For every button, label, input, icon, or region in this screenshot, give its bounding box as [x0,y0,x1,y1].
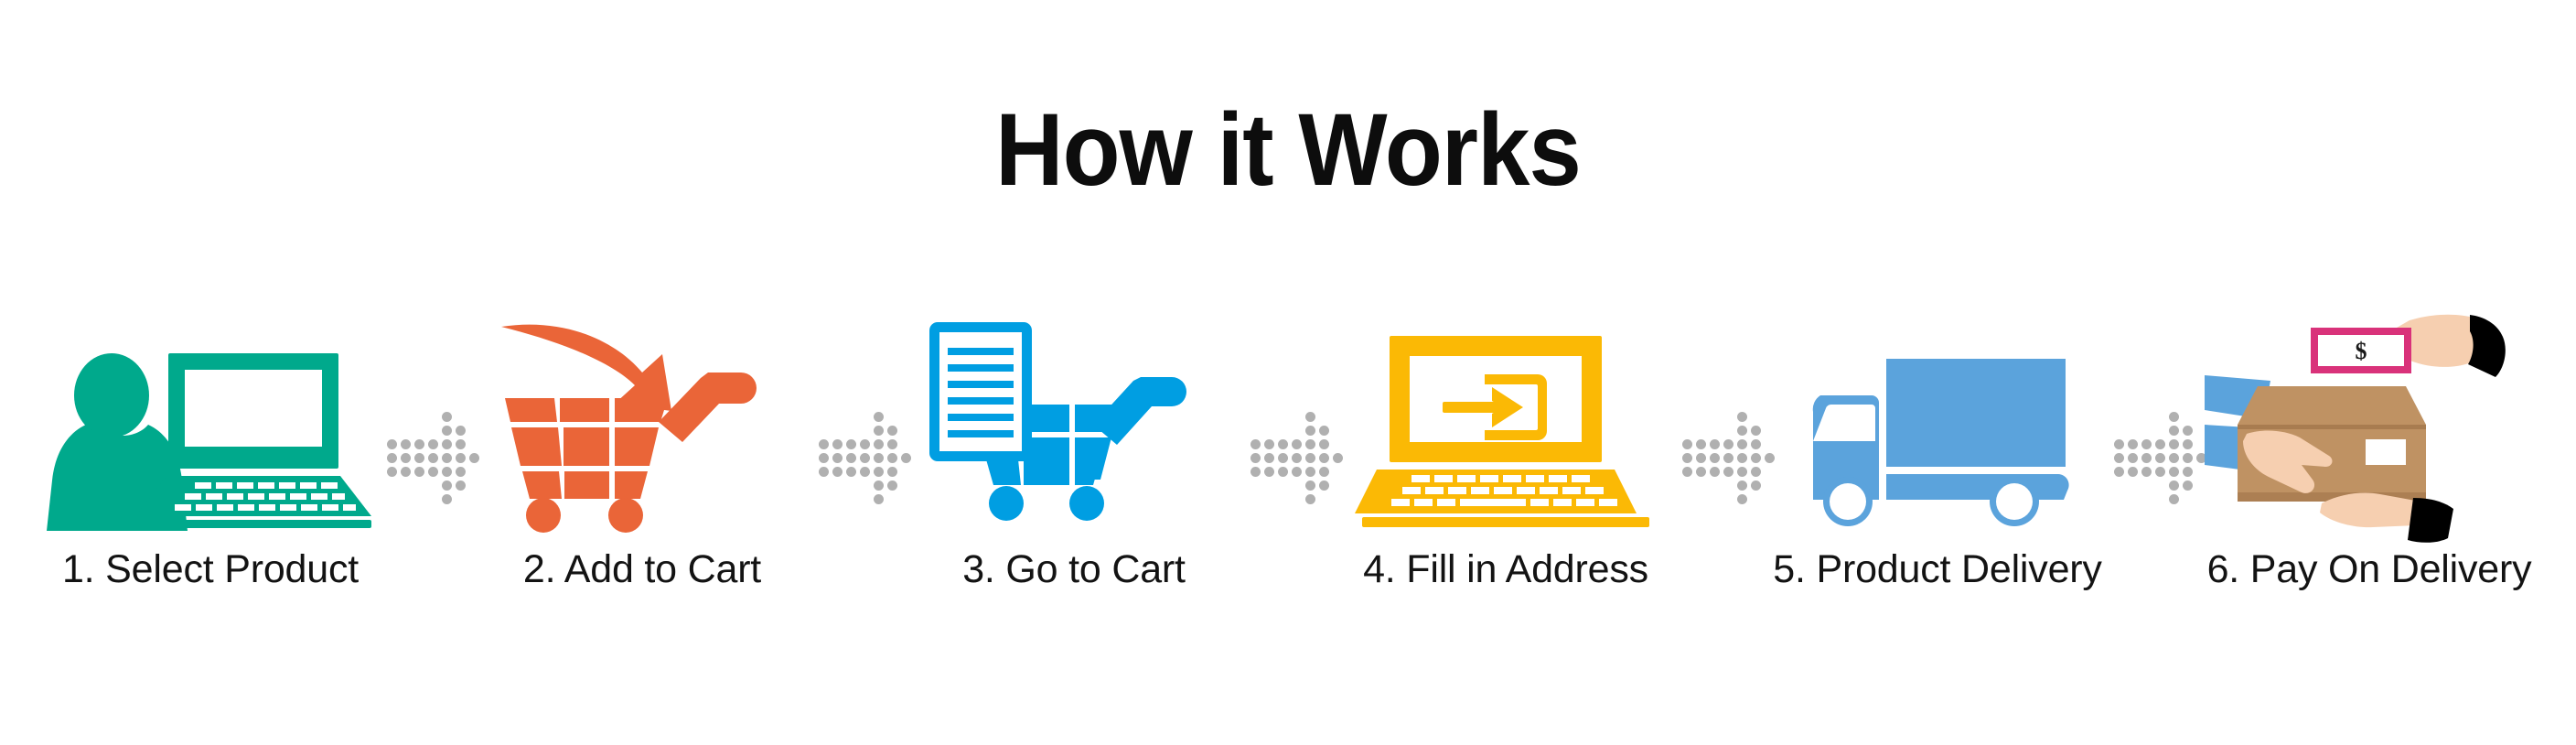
arrow-dot-empty [2126,479,2140,492]
arrow-dot-empty [1667,410,1680,424]
arrow-dot-empty [2098,465,2112,479]
arrow-dot-empty [1694,492,1708,506]
step-6-label: 6. Pay On Delivery [2207,547,2532,592]
step-connector-1 [384,311,468,641]
arrow-dot-empty [844,492,858,506]
steps-row: 1. Select Product 2. Add to Cart [37,311,2543,641]
arrow-dot-empty [803,451,817,465]
arrow-dot [1317,424,1331,437]
step-4[interactable]: 4. Fill in Address [1332,311,1680,641]
arrow-dot [385,437,399,451]
arrow-dot-empty [2140,424,2153,437]
arrow-dot-empty [1708,424,1722,437]
arrow-dot-empty [2098,424,2112,437]
arrow-dot-empty [858,424,872,437]
arrow-dot [1249,451,1262,465]
page-title: How it Works [103,99,2474,201]
step-2-artwork [468,311,816,531]
arrow-dot-empty [803,424,817,437]
arrow-dot [440,437,454,451]
step-4-artwork [1332,311,1680,531]
arrow-dot-empty [1276,410,1290,424]
arrow-dot-empty [454,492,467,506]
arrow-dot [817,465,831,479]
arrow-dot [1735,492,1749,506]
arrow-dot [2167,479,2181,492]
arrow-dot [1735,465,1749,479]
arrow-dot-empty [371,451,385,465]
arrow-dot [1290,437,1304,451]
arrow-dot-empty [1290,492,1304,506]
arrow-dot-empty [885,410,899,424]
arrow-dot [831,451,844,465]
arrow-dot [2140,451,2153,465]
arrow-dot-empty [426,424,440,437]
arrow-dot-empty [1290,479,1304,492]
arrow-dot [2140,465,2153,479]
arrow-dot [817,451,831,465]
arrow-dot-empty [2153,410,2167,424]
arrow-dot [2126,437,2140,451]
arrow-dot-empty [371,424,385,437]
arrow-dot [413,465,426,479]
arrow-dot-empty [1722,492,1735,506]
arrow-dot [440,424,454,437]
arrow-dot [1694,465,1708,479]
arrow-dot [885,437,899,451]
arrow-dot [440,479,454,492]
arrow-dot [885,479,899,492]
arrow-dot [2167,451,2181,465]
arrow-dot [872,410,885,424]
arrow-dot [1749,465,1763,479]
step-1-artwork [37,311,384,531]
arrow-dot-empty [426,492,440,506]
arrow-dot [440,451,454,465]
arrow-dot [844,465,858,479]
arrow-dot [2153,437,2167,451]
arrow-dot [1249,437,1262,451]
arrow-dot [872,424,885,437]
arrow-dot [1304,465,1317,479]
arrow-dot [1735,437,1749,451]
arrow-dot-empty [2140,492,2153,506]
step-5-artwork [1764,311,2111,531]
arrow-dot-empty [1249,479,1262,492]
arrow-dot [2140,437,2153,451]
hands-box-money-icon: $ [2205,311,2534,531]
arrow-dot [1249,465,1262,479]
arrow-dot [2153,465,2167,479]
arrow-dot [872,465,885,479]
arrow-dot-empty [2153,492,2167,506]
arrow-dot [1749,437,1763,451]
arrow-dot-empty [1749,410,1763,424]
arrow-dot-empty [1290,424,1304,437]
dotted-right-arrow-icon [803,410,913,506]
arrow-dot [454,465,467,479]
arrow-dot [399,451,413,465]
arrow-dot [426,437,440,451]
arrow-dot-empty [1276,424,1290,437]
arrow-dot [885,424,899,437]
arrow-dot [1735,424,1749,437]
arrow-dot-empty [1680,492,1694,506]
arrow-dot-empty [1667,492,1680,506]
arrow-dot-empty [2140,410,2153,424]
arrow-dot [426,465,440,479]
arrow-dot-empty [385,410,399,424]
arrow-dot [440,492,454,506]
arrow-dot [1317,437,1331,451]
arrow-dot [2167,410,2181,424]
arrow-dot-empty [885,492,899,506]
arrow-dot [413,451,426,465]
arrow-dot-empty [2112,479,2126,492]
arrow-dot-empty [413,479,426,492]
arrow-dot-empty [858,492,872,506]
arrow-dot-empty [1722,424,1735,437]
arrow-dot [872,437,885,451]
step-connector-5 [2111,311,2195,641]
arrow-dot [2181,424,2195,437]
arrow-dot-empty [1249,410,1262,424]
arrow-dot-empty [426,479,440,492]
arrow-dot [1680,451,1694,465]
arrow-dot-empty [371,479,385,492]
arrow-dot-empty [385,479,399,492]
arrow-dot-empty [803,479,817,492]
arrow-dot [1304,479,1317,492]
arrow-dot-empty [2098,451,2112,465]
arrow-dot [2153,451,2167,465]
arrow-dot-empty [2181,492,2195,506]
arrow-dot-empty [413,424,426,437]
arrow-dot [2181,465,2195,479]
how-it-works-infographic: How it Works [0,0,2576,745]
arrow-dot-empty [1276,492,1290,506]
arrow-dot [1722,437,1735,451]
arrow-dot [844,437,858,451]
step-3-label: 3. Go to Cart [962,547,1186,592]
arrow-dot-empty [1235,437,1249,451]
dotted-right-arrow-icon [371,410,481,506]
arrow-dot [1262,451,1276,465]
arrow-dot [1735,451,1749,465]
arrow-dot [1304,437,1317,451]
arrow-dot-empty [1262,479,1276,492]
arrow-dot [399,465,413,479]
arrow-dot [1262,437,1276,451]
arrow-dot [454,479,467,492]
arrow-dot-empty [2112,492,2126,506]
arrow-dot [1276,465,1290,479]
dotted-right-arrow-icon [1235,410,1345,506]
arrow-dot [1304,492,1317,506]
arrow-dot-empty [2112,424,2126,437]
arrow-dot-empty [1667,437,1680,451]
arrow-dot-empty [831,479,844,492]
arrow-dot-empty [803,465,817,479]
arrow-dot [2167,437,2181,451]
step-5[interactable]: 5. Product Delivery [1764,311,2111,641]
arrow-dot [1722,451,1735,465]
arrow-dot-empty [1276,479,1290,492]
arrow-dot [2167,492,2181,506]
arrow-dot-empty [413,410,426,424]
arrow-dot [872,479,885,492]
arrow-dot-empty [817,424,831,437]
arrow-dot [385,451,399,465]
arrow-dot-empty [1694,410,1708,424]
arrow-dot [2126,465,2140,479]
arrow-dot [1304,410,1317,424]
dotted-right-arrow-icon [1667,410,1776,506]
arrow-dot [885,451,899,465]
svg-text:$: $ [2356,338,2367,364]
step-3[interactable]: 3. Go to Cart [900,311,1248,641]
arrow-dot-empty [1317,410,1331,424]
arrow-dot [385,465,399,479]
arrow-dot-empty [399,479,413,492]
document-cart-icon [928,320,1220,531]
arrow-dot-empty [1749,492,1763,506]
arrow-dot-empty [2126,492,2140,506]
arrow-dot [1276,451,1290,465]
arrow-dot-empty [817,492,831,506]
arrow-dot [1317,465,1331,479]
arrow-dot [831,465,844,479]
arrow-dot [817,437,831,451]
arrow-dot-empty [1262,424,1276,437]
step-connector-3 [1248,311,1332,641]
laptop-login-icon [1355,334,1657,531]
arrow-dot [1694,437,1708,451]
arrow-dot [2181,451,2195,465]
arrow-dot-empty [2098,410,2112,424]
arrow-dot [454,451,467,465]
cart-arrow-icon [496,316,789,531]
step-1[interactable]: 1. Select Product [37,311,384,641]
arrow-dot-empty [385,424,399,437]
arrow-dot [2112,437,2126,451]
arrow-dot-empty [1235,492,1249,506]
arrow-dot-empty [2140,479,2153,492]
arrow-dot-empty [399,424,413,437]
arrow-dot [2167,424,2181,437]
step-2-label: 2. Add to Cart [523,547,761,592]
arrow-dot [1694,451,1708,465]
arrow-dot-empty [831,492,844,506]
arrow-dot-empty [1235,424,1249,437]
arrow-dot-empty [2112,410,2126,424]
arrow-dot-empty [2153,424,2167,437]
arrow-dot-empty [803,410,817,424]
step-2[interactable]: 2. Add to Cart [468,311,816,641]
arrow-dot-empty [1262,410,1276,424]
arrow-dot [2181,437,2195,451]
arrow-dot [872,451,885,465]
arrow-dot-empty [1708,410,1722,424]
arrow-dot-empty [1249,424,1262,437]
arrow-dot-empty [2098,437,2112,451]
arrow-dot [1735,410,1749,424]
arrow-dot [858,437,872,451]
arrow-dot [440,465,454,479]
arrow-dot-empty [1235,451,1249,465]
arrow-dot-empty [371,492,385,506]
arrow-dot [1722,465,1735,479]
arrow-dot-empty [831,410,844,424]
step-6-artwork: $ [2195,311,2543,531]
arrow-dot-empty [817,479,831,492]
step-4-label: 4. Fill in Address [1363,547,1648,592]
arrow-dot-empty [2126,410,2140,424]
arrow-dot-empty [371,410,385,424]
arrow-dot-empty [2153,479,2167,492]
arrow-dot-empty [844,479,858,492]
arrow-dot [1290,465,1304,479]
arrow-dot [844,451,858,465]
arrow-dot [2167,465,2181,479]
arrow-dot-empty [1667,424,1680,437]
arrow-dot-empty [1667,465,1680,479]
arrow-dot [2181,479,2195,492]
arrow-dot [1708,465,1722,479]
step-connector-4 [1680,311,1764,641]
arrow-dot-empty [1708,479,1722,492]
arrow-dot-empty [399,492,413,506]
arrow-dot [1317,451,1331,465]
arrow-dot [1262,465,1276,479]
arrow-dot-empty [399,410,413,424]
arrow-dot [1749,479,1763,492]
arrow-dot-empty [426,410,440,424]
arrow-dot-empty [371,437,385,451]
arrow-dot-empty [1249,492,1262,506]
arrow-dot [2112,465,2126,479]
arrow-dot-empty [2098,479,2112,492]
arrow-dot [1304,451,1317,465]
arrow-dot-empty [1667,451,1680,465]
arrow-dot-empty [1680,479,1694,492]
arrow-dot [426,451,440,465]
arrow-dot-empty [1708,492,1722,506]
dotted-right-arrow-icon [2098,410,2208,506]
step-connector-2 [816,311,900,641]
arrow-dot-empty [858,410,872,424]
arrow-dot [1708,437,1722,451]
arrow-dot [1680,437,1694,451]
arrow-dot-empty [1694,424,1708,437]
arrow-dot-empty [2098,492,2112,506]
arrow-dot-empty [2181,410,2195,424]
arrow-dot [858,465,872,479]
arrow-dot [872,492,885,506]
arrow-dot-empty [371,465,385,479]
arrow-dot [2112,451,2126,465]
arrow-dot [1735,479,1749,492]
person-laptop-icon [46,348,375,531]
arrow-dot-empty [1317,492,1331,506]
delivery-truck-icon [1791,348,2084,531]
arrow-dot-empty [844,424,858,437]
arrow-dot-empty [2126,424,2140,437]
arrow-dot [2126,451,2140,465]
arrow-dot-empty [1722,479,1735,492]
arrow-dot [1304,424,1317,437]
arrow-dot-empty [1722,410,1735,424]
arrow-dot-empty [413,492,426,506]
arrow-dot-empty [844,410,858,424]
arrow-dot-empty [1680,424,1694,437]
arrow-dot [1749,451,1763,465]
money-bill: $ [2311,328,2411,373]
arrow-dot [413,437,426,451]
arrow-dot-empty [803,492,817,506]
arrow-dot-empty [1235,479,1249,492]
arrow-dot-empty [1667,479,1680,492]
arrow-dot-empty [831,424,844,437]
arrow-dot [858,451,872,465]
arrow-dot-empty [1235,465,1249,479]
arrow-dot [885,465,899,479]
arrow-dot-empty [385,492,399,506]
arrow-dot [1290,451,1304,465]
arrow-dot-empty [817,410,831,424]
arrow-dot-empty [1262,492,1276,506]
arrow-dot [1276,437,1290,451]
step-6[interactable]: $ 6. Pay On Delivery [2195,311,2543,641]
step-5-label: 5. Product Delivery [1773,547,2101,592]
arrow-dot-empty [1235,410,1249,424]
arrow-dot [1708,451,1722,465]
arrow-dot [1317,479,1331,492]
arrow-dot [1749,424,1763,437]
arrow-dot [1680,465,1694,479]
arrow-dot [454,424,467,437]
arrow-dot-empty [858,479,872,492]
arrow-dot [831,437,844,451]
arrow-dot-empty [454,410,467,424]
arrow-dot-empty [803,437,817,451]
arrow-dot [440,410,454,424]
step-1-label: 1. Select Product [62,547,359,592]
arrow-dot-empty [1680,410,1694,424]
step-3-artwork [900,311,1248,531]
arrow-dot [454,437,467,451]
arrow-dot [399,437,413,451]
arrow-dot-empty [1290,410,1304,424]
arrow-dot-empty [1694,479,1708,492]
